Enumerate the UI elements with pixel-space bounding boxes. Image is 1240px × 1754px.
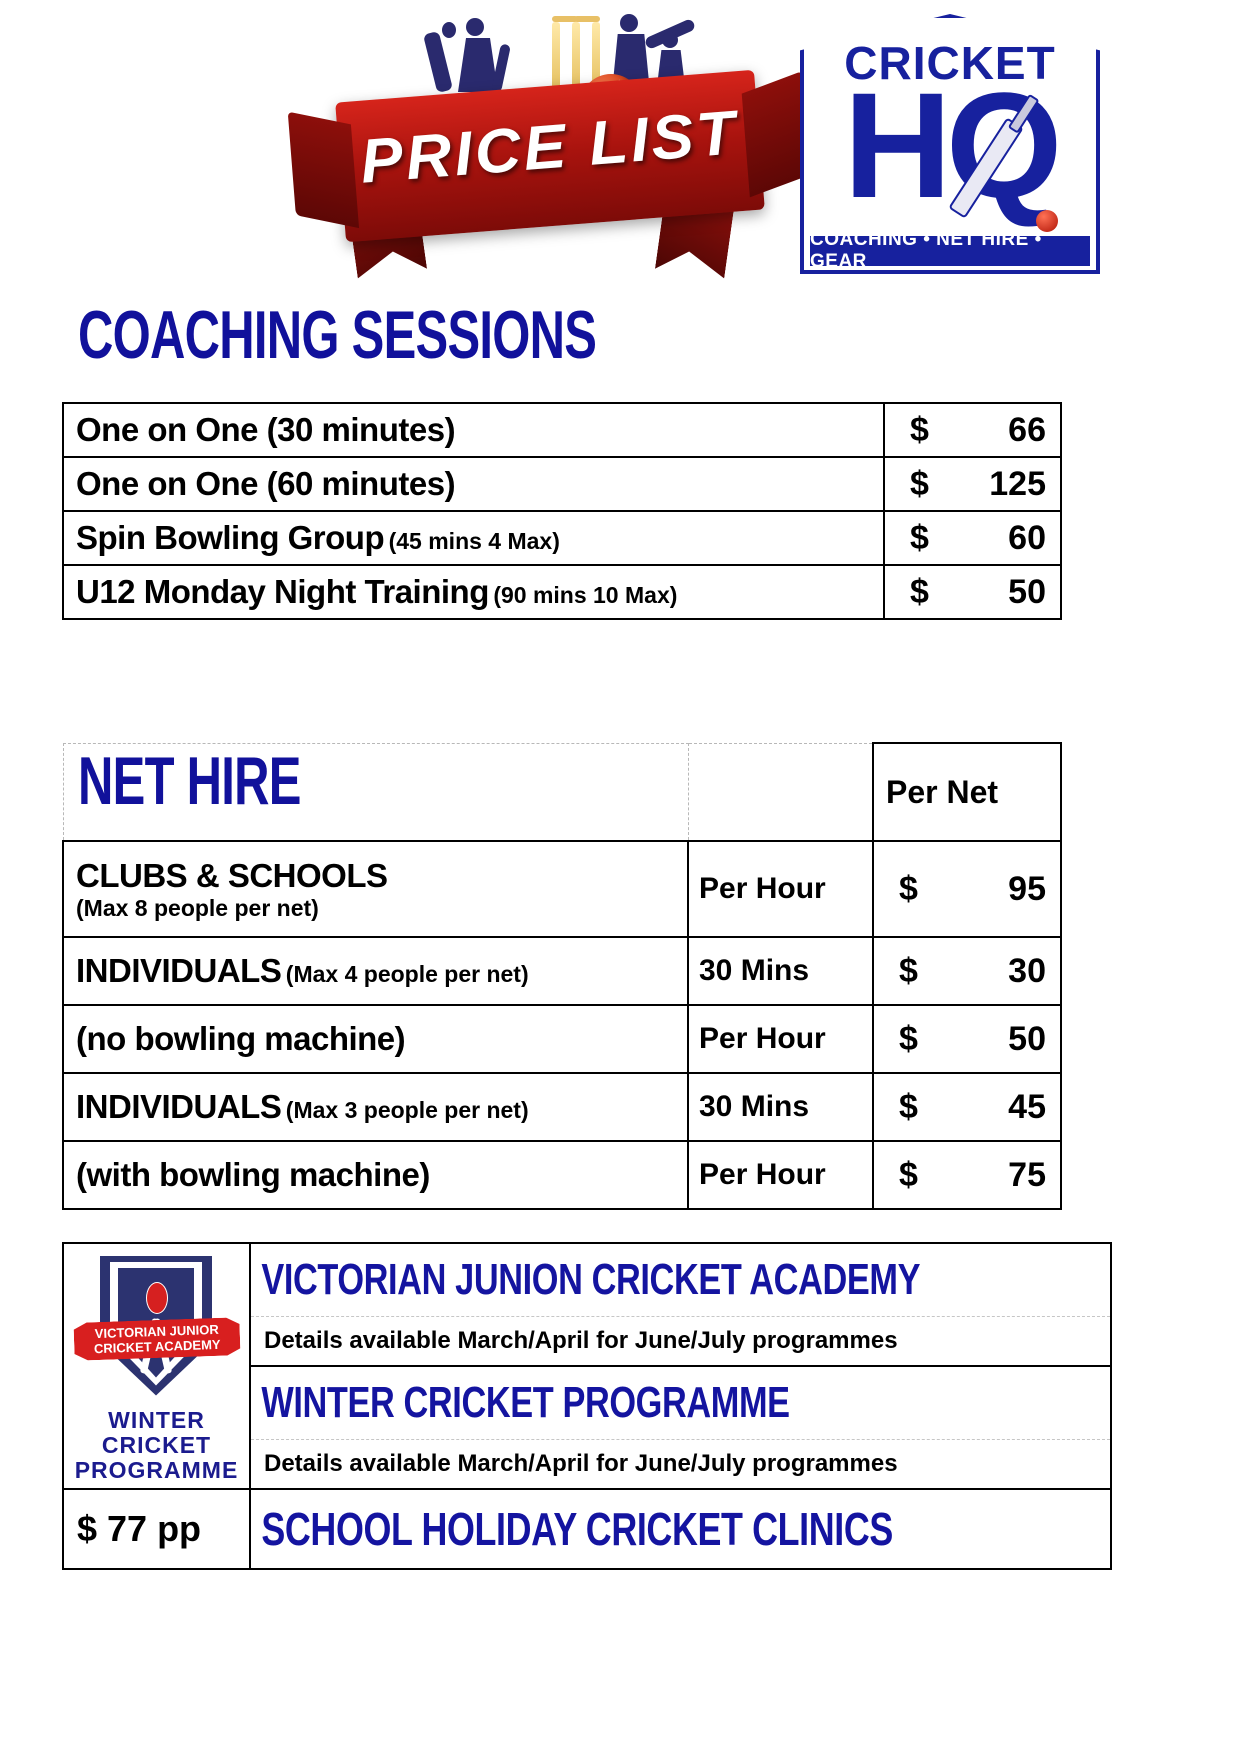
currency-symbol: $	[886, 573, 929, 612]
currency-symbol: $	[886, 465, 929, 504]
banner-title: PRICE LIST	[333, 95, 766, 199]
table-row: VICTORIAN JUNIOR CRICKET ACADEMY WINTER …	[63, 1243, 1111, 1317]
page-header: PRICE LIST CRICKET HQ COACHING • NET HIR…	[0, 0, 1240, 290]
logo-tagline: COACHING • NET HIRE • GEAR	[810, 236, 1090, 266]
price-amount: 66	[1008, 411, 1046, 449]
row-label: Spin Bowling Group	[76, 519, 384, 556]
net-hire-header-row: NET HIRE Per Net	[63, 743, 1061, 841]
net-hire-row-name: INDIVIDUALS (Max 4 people per net)	[63, 937, 688, 1005]
vjca-title-cell: VICTORIAN JUNION CRICKET ACADEMY	[250, 1243, 1111, 1317]
price-amount: 60	[1008, 519, 1046, 557]
programme-details: Details available March/April for June/J…	[252, 1450, 1109, 1478]
price-list-page: PRICE LIST CRICKET HQ COACHING • NET HIR…	[0, 0, 1240, 1754]
coaching-sessions-heading: COACHING SESSIONS	[78, 300, 596, 370]
row-note: (45 mins 4 Max)	[389, 528, 560, 554]
row-label: INDIVIDUALS	[76, 1088, 281, 1125]
price-amount: 75	[1008, 1156, 1046, 1194]
currency-symbol: $	[875, 1156, 918, 1195]
coaching-row-price: $50	[884, 565, 1061, 619]
currency-symbol: $	[886, 519, 929, 558]
coaching-row-price: $125	[884, 457, 1061, 511]
row-label: One on One (30 minutes)	[76, 411, 455, 448]
net-hire-table: NET HIRE Per Net CLUBS & SCHOOLS (Max 8 …	[62, 742, 1062, 1210]
price-list-banner: PRICE LIST	[330, 0, 770, 285]
net-hire-row-unit: Per Hour	[688, 841, 873, 937]
net-hire-row-unit: 30 Mins	[688, 1073, 873, 1141]
net-hire-row-price: $30	[873, 937, 1061, 1005]
net-hire-heading: NET HIRE	[78, 746, 301, 816]
clinic-price-cell: $ 77 pp	[63, 1489, 250, 1569]
currency-symbol: $	[875, 1020, 918, 1059]
currency-symbol: $	[886, 411, 929, 450]
net-hire-row-price: $45	[873, 1073, 1061, 1141]
currency-symbol: $	[875, 1088, 918, 1127]
row-note: (Max 8 people per net)	[76, 895, 686, 922]
row-label: CLUBS & SCHOOLS	[76, 857, 686, 895]
winter-title-cell: WINTER CRICKET PROGRAMME	[250, 1366, 1111, 1440]
net-hire-row-unit: 30 Mins	[688, 937, 873, 1005]
net-hire-row-unit: Per Hour	[688, 1005, 873, 1073]
row-note: (Max 3 people per net)	[286, 1097, 529, 1123]
coaching-row-price: $66	[884, 403, 1061, 457]
clinic-price: $ 77 pp	[65, 1508, 248, 1550]
coaching-row-name: One on One (60 minutes)	[63, 457, 884, 511]
net-hire-row-name: CLUBS & SCHOOLS (Max 8 people per net)	[63, 841, 688, 937]
vjca-ribbon-label: VICTORIAN JUNIOR CRICKET ACADEMY	[73, 1317, 240, 1361]
price-amount: 95	[1008, 870, 1046, 908]
net-hire-unit-header	[688, 743, 873, 841]
row-label: (no bowling machine)	[76, 1020, 405, 1057]
table-row: $ 77 pp SCHOOL HOLIDAY CRICKET CLINICS	[63, 1489, 1111, 1569]
net-hire-row-name: (with bowling machine)	[63, 1141, 688, 1209]
net-hire-row-price: $95	[873, 841, 1061, 937]
net-hire-row-unit: Per Hour	[688, 1141, 873, 1209]
vjca-details-cell: Details available March/April for June/J…	[250, 1317, 1111, 1367]
currency-symbol: $	[875, 870, 918, 909]
programme-details: Details available March/April for June/J…	[252, 1327, 1109, 1355]
vjca-shield-icon: VICTORIAN JUNIOR CRICKET ACADEMY	[64, 1256, 249, 1406]
net-hire-row-name: INDIVIDUALS (Max 3 people per net)	[63, 1073, 688, 1141]
winter-logo-line2: PROGRAMME	[64, 1458, 249, 1483]
coaching-sessions-table: One on One (30 minutes) $66 One on One (…	[62, 402, 1062, 620]
row-label: INDIVIDUALS	[76, 952, 281, 989]
winter-details-cell: Details available March/April for June/J…	[250, 1440, 1111, 1490]
row-label: U12 Monday Night Training	[76, 573, 489, 610]
winter-programme-logo: WINTER CRICKET PROGRAMME	[64, 1408, 249, 1483]
price-amount: 50	[1008, 573, 1046, 611]
net-hire-heading-cell: NET HIRE	[63, 743, 688, 841]
table-row: (no bowling machine) Per Hour $50	[63, 1005, 1061, 1073]
table-row: CLUBS & SCHOOLS (Max 8 people per net) P…	[63, 841, 1061, 937]
net-hire-row-name: (no bowling machine)	[63, 1005, 688, 1073]
row-note: (Max 4 people per net)	[286, 961, 529, 987]
logo-brand-letters: HQ	[800, 70, 1100, 220]
per-net-header: Per Net	[873, 743, 1061, 841]
table-row: U12 Monday Night Training (90 mins 10 Ma…	[63, 565, 1061, 619]
row-label: (with bowling machine)	[76, 1156, 430, 1193]
table-row: One on One (30 minutes) $66	[63, 403, 1061, 457]
price-amount: 45	[1008, 1088, 1046, 1126]
coaching-row-name: U12 Monday Night Training (90 mins 10 Ma…	[63, 565, 884, 619]
price-amount: 50	[1008, 1020, 1046, 1058]
table-row: One on One (60 minutes) $125	[63, 457, 1061, 511]
currency-symbol: $	[875, 952, 918, 991]
table-row: (with bowling machine) Per Hour $75	[63, 1141, 1061, 1209]
net-hire-row-price: $75	[873, 1141, 1061, 1209]
net-hire-row-price: $50	[873, 1005, 1061, 1073]
coaching-row-price: $60	[884, 511, 1061, 565]
cricket-hq-logo: CRICKET HQ COACHING • NET HIRE • GEAR	[800, 14, 1100, 274]
programmes-table: VICTORIAN JUNIOR CRICKET ACADEMY WINTER …	[62, 1242, 1112, 1570]
winter-logo-line1: WINTER CRICKET	[64, 1408, 249, 1458]
clinic-title-cell: SCHOOL HOLIDAY CRICKET CLINICS	[250, 1489, 1111, 1569]
table-row: Spin Bowling Group (45 mins 4 Max) $60	[63, 511, 1061, 565]
table-row: INDIVIDUALS (Max 3 people per net) 30 Mi…	[63, 1073, 1061, 1141]
programme-title: VICTORIAN JUNION CRICKET ACADEMY	[252, 1255, 920, 1305]
coaching-row-name: One on One (30 minutes)	[63, 403, 884, 457]
price-amount: 125	[989, 465, 1046, 503]
academy-logos-cell: VICTORIAN JUNIOR CRICKET ACADEMY WINTER …	[63, 1243, 250, 1489]
coaching-row-name: Spin Bowling Group (45 mins 4 Max)	[63, 511, 884, 565]
row-label: One on One (60 minutes)	[76, 465, 455, 502]
clinic-title: SCHOOL HOLIDAY CRICKET CLINICS	[252, 1502, 920, 1556]
table-row: INDIVIDUALS (Max 4 people per net) 30 Mi…	[63, 937, 1061, 1005]
price-amount: 30	[1008, 952, 1046, 990]
programme-title: WINTER CRICKET PROGRAMME	[252, 1378, 920, 1428]
row-note: (90 mins 10 Max)	[493, 582, 677, 608]
